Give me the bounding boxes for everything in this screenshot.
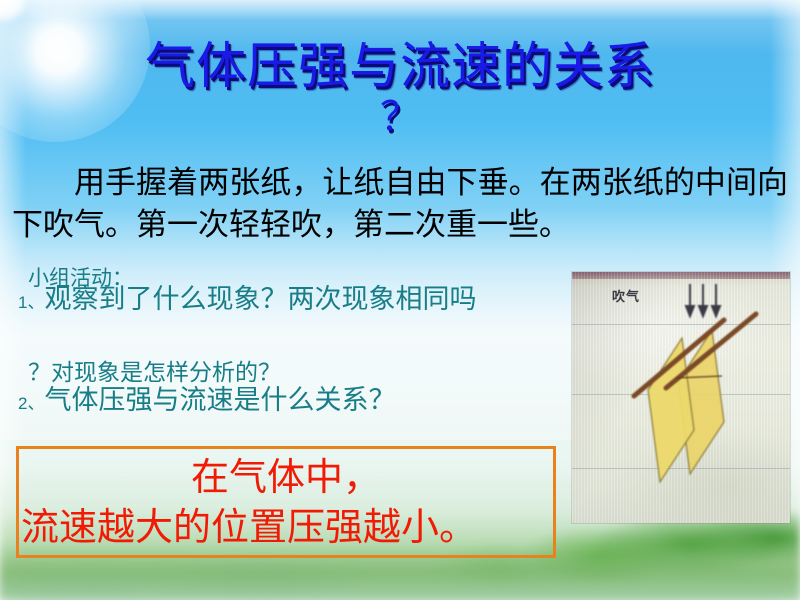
instruction-paragraph: 用手握着两张纸，让纸自由下垂。在两张纸的中间向下吹气。第一次轻轻吹，第二次重一些… xyxy=(12,162,788,246)
list-item-number: 1、 xyxy=(18,293,44,312)
list-item: 2、气体压强与流速是什么关系？ xyxy=(18,383,598,422)
photo-blow-label: 吹气 xyxy=(612,286,640,305)
slide-canvas: 气体压强与流速的关系 ？ 用手握着两张纸，让纸自由下垂。在两张纸的中间向下吹气。… xyxy=(0,0,800,600)
list-item-label: 观察到了什么现象？两次现象相同吗 xyxy=(44,284,476,314)
list-item: 1、观察到了什么现象？两次现象相同吗 xyxy=(18,282,598,321)
conclusion-line-2: 流速越大的位置压强越小。 xyxy=(19,503,553,553)
title-question-mark: ？ xyxy=(0,96,800,138)
experiment-photo: 吹气 xyxy=(572,272,790,523)
paper-sheets-diagram xyxy=(572,272,790,523)
conclusion-line-1: 在气体中， xyxy=(19,449,553,503)
paper-sheet-front xyxy=(648,338,694,482)
list-item-label: 气体压强与流速是什么关系？ xyxy=(44,385,395,415)
page-title: 气体压强与流速的关系 xyxy=(0,38,800,94)
airflow-arrows-icon xyxy=(686,284,720,316)
title-block: 气体压强与流速的关系 ？ xyxy=(0,38,800,138)
activity-question-list: 1、观察到了什么现象？两次现象相同吗 2、气体压强与流速是什么关系？ xyxy=(18,282,598,422)
sun-core-icon xyxy=(0,0,26,22)
list-item-number: 2、 xyxy=(18,394,44,413)
conclusion-box: 在气体中， 流速越大的位置压强越小。 xyxy=(16,446,556,558)
